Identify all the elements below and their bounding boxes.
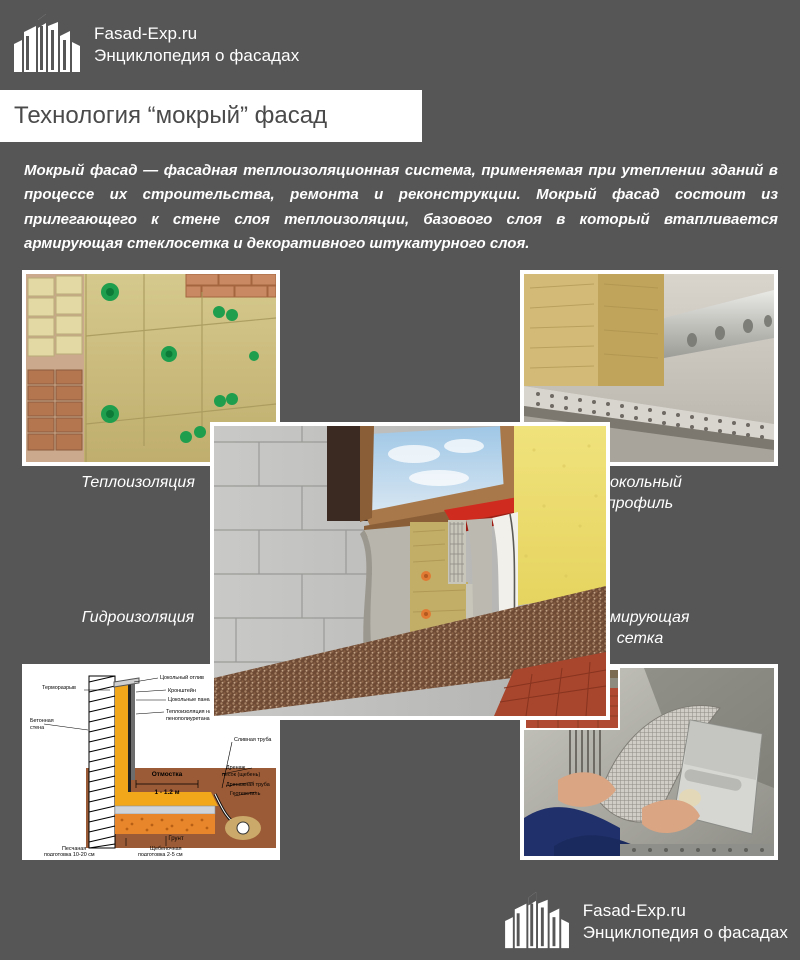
svg-text:Геотекстиль: Геотекстиль xyxy=(230,791,261,797)
caption-waterproofing-text: Гидроизоляция xyxy=(82,609,194,626)
site-header: Fasad-Exp.ru Энциклопедия о фасадах xyxy=(0,0,800,90)
svg-text:Грунт: Грунт xyxy=(168,836,183,842)
brand-text-footer: Fasad-Exp.ru Энциклопедия о фасадах xyxy=(583,900,788,944)
caption-insulation-text: Теплоизоляция xyxy=(81,474,195,491)
brand-text: Fasad-Exp.ru Энциклопедия о фасадах xyxy=(94,23,299,67)
buildings-skyline-icon xyxy=(505,892,571,952)
page-title-bar: Технология “мокрый” фасад xyxy=(0,90,422,142)
brand-tagline-footer: Энциклопедия о фасадах xyxy=(583,922,788,944)
site-footer: Fasad-Exp.ru Энциклопедия о фасадах xyxy=(505,884,800,960)
svg-text:1 - 1.2 м: 1 - 1.2 м xyxy=(154,789,179,796)
svg-text:Сливная труба: Сливная труба xyxy=(234,737,271,743)
svg-text:пенополиуретана: пенополиуретана xyxy=(166,716,210,722)
svg-text:песок (щебень): песок (щебень) xyxy=(222,772,260,778)
illustration-grid: Грунт Терморазрыв Бетоннаястена Цокольны… xyxy=(0,270,800,870)
caption-waterproofing: Гидроизоляция xyxy=(38,608,238,629)
svg-text:подготовка 10-20 см: подготовка 10-20 см xyxy=(44,852,95,856)
buildings-skyline-icon xyxy=(14,14,82,76)
brand-site-footer: Fasad-Exp.ru xyxy=(583,900,788,922)
intro-paragraph: Мокрый фасад — фасадная теплоизоляционна… xyxy=(24,159,778,256)
svg-text:подготовка 2-5 см: подготовка 2-5 см xyxy=(138,852,183,856)
brand-tagline: Энциклопедия о фасадах xyxy=(94,45,299,67)
svg-text:Дренажная труба: Дренажная труба xyxy=(226,782,270,788)
svg-text:Отмостка: Отмостка xyxy=(152,771,183,778)
brand-site: Fasad-Exp.ru xyxy=(94,23,299,45)
svg-text:Терморазрыв: Терморазрыв xyxy=(42,685,76,691)
svg-text:Теплоизоляция на: Теплоизоляция на xyxy=(166,709,212,715)
page-title: Технология “мокрый” фасад xyxy=(14,102,327,130)
svg-text:стена: стена xyxy=(30,725,44,731)
svg-text:Кронштейн: Кронштейн xyxy=(168,687,196,694)
svg-text:Дренаж: Дренаж xyxy=(226,765,246,771)
panel-wall-section xyxy=(210,422,610,720)
svg-text:Цокольный отлив: Цокольный отлив xyxy=(160,674,204,681)
caption-insulation: Теплоизоляция xyxy=(38,473,238,494)
svg-text:Бетонная: Бетонная xyxy=(30,718,54,724)
image-wall-section xyxy=(214,426,606,716)
